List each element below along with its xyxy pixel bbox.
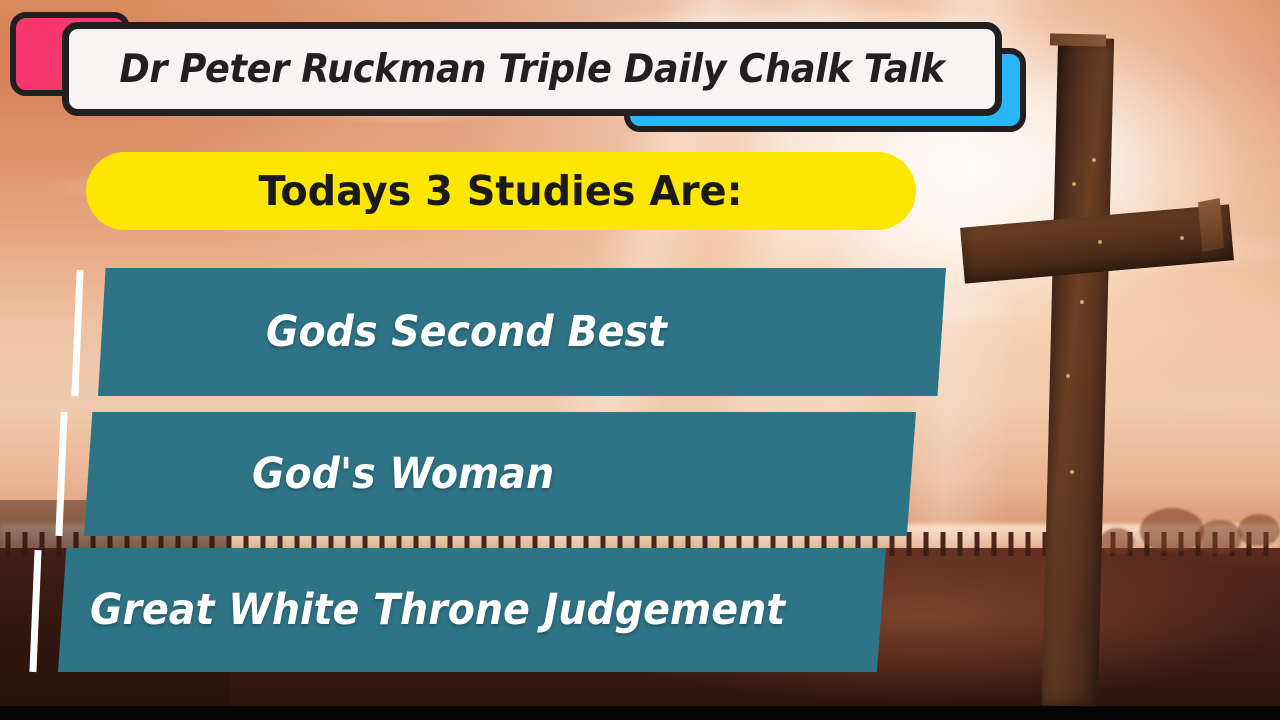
wood-knot (1098, 240, 1102, 244)
cross-vertical-beam (1042, 37, 1114, 706)
subtitle-pill: Todays 3 Studies Are: (86, 152, 916, 230)
subtitle-text: Todays 3 Studies Are: (259, 167, 743, 215)
wood-knot (1180, 236, 1184, 240)
study-item-2[interactable]: God's Woman (84, 412, 916, 536)
wood-knot (1066, 374, 1070, 378)
cross-horizontal-beam (960, 204, 1234, 283)
wood-knot (1072, 182, 1076, 186)
study-item-label: Great White Throne Judgement (90, 585, 785, 635)
cross-beam-top-face (1050, 33, 1106, 46)
study-item-1[interactable]: Gods Second Best (98, 268, 946, 396)
study-item-3[interactable]: Great White Throne Judgement (58, 548, 886, 672)
study-item-label: Gods Second Best (266, 307, 667, 357)
page-title: Dr Peter Ruckman Triple Daily Chalk Talk (119, 47, 944, 92)
wood-knot (1092, 158, 1096, 162)
cross-beam-end-face (1198, 198, 1224, 252)
title-plate: Dr Peter Ruckman Triple Daily Chalk Talk (62, 22, 1002, 116)
wood-knot (1070, 470, 1074, 474)
wood-knot (1080, 300, 1084, 304)
thumbnail-canvas: Dr Peter Ruckman Triple Daily Chalk Talk… (0, 0, 1280, 720)
study-item-label: God's Woman (252, 449, 554, 499)
